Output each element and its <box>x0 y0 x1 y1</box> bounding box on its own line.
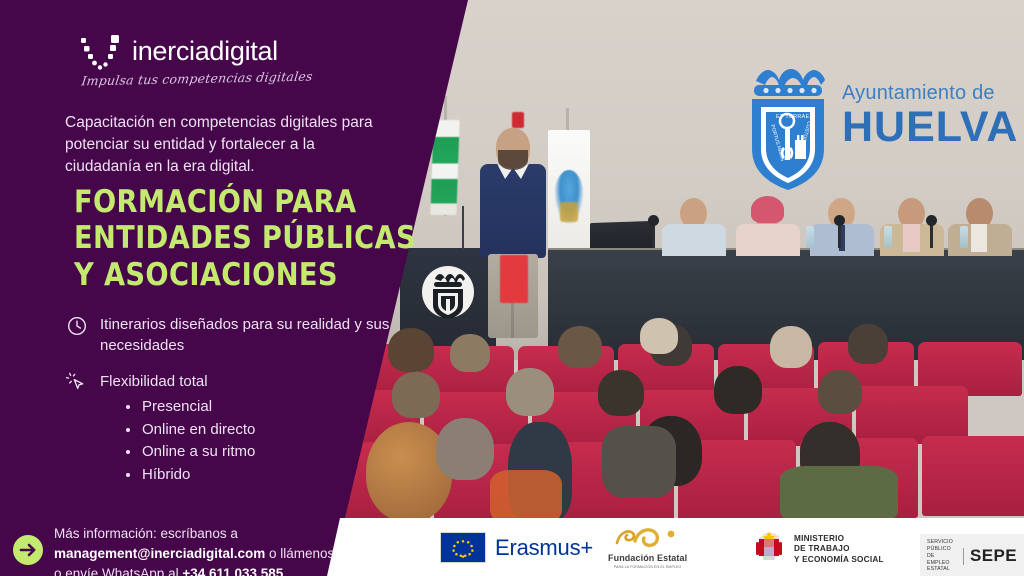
lede-paragraph: Capacitación en competencias digitales p… <box>65 112 377 178</box>
panelist-body <box>662 224 726 256</box>
flag-finial <box>512 112 524 128</box>
contact-text: Más información: escríbanos a management… <box>54 524 344 576</box>
panelist-headscarf <box>751 196 784 223</box>
podium-seal-icon <box>422 266 474 318</box>
sepe-fulltext: SERVICIO PÚBLICO DE EMPLEO ESTATAL <box>927 539 957 573</box>
modality-list: Presencial Online en directo Online a su… <box>100 396 396 487</box>
audience-head <box>450 334 490 372</box>
sepe-divider <box>963 548 964 565</box>
audience-head <box>640 318 678 354</box>
left-content: inerciadigital Impulsa tus competencias … <box>0 0 400 576</box>
sepe-box: SERVICIO PÚBLICO DE EMPLEO ESTATAL SEPE <box>920 534 1024 576</box>
audience-head <box>558 326 602 368</box>
panelist-shirt <box>971 224 987 252</box>
red-banner-prop <box>500 255 528 303</box>
contact-line-3-prefix: o envíe WhatsApp al <box>54 566 182 576</box>
audience-head <box>506 368 554 416</box>
sepe-line-1: SERVICIO PÚBLICO <box>927 539 953 552</box>
fundacion-swirl-icon <box>613 526 683 553</box>
clock-icon <box>66 315 88 337</box>
sepe-acronym: SEPE <box>970 546 1017 566</box>
list-item: Híbrido <box>126 464 396 487</box>
podium-microphone <box>462 206 464 250</box>
huelva-wordmark: Ayuntamiento de HUELVA <box>842 83 1018 149</box>
cursor-click-icon <box>66 372 88 394</box>
footer-logos: Erasmus+ Fundación Estatal PARA LA FORMA… <box>340 518 1024 576</box>
speaker-jacket <box>480 164 546 258</box>
speaker-beard <box>498 150 528 170</box>
svg-text:ET TERRAE: ET TERRAE <box>776 114 810 120</box>
audience-head <box>714 366 762 414</box>
audience-head <box>598 370 644 416</box>
fundacion-estatal-logo: Fundación Estatal PARA LA FORMACIÓN EN E… <box>608 526 687 569</box>
panelist-1 <box>660 198 728 254</box>
panelist-2 <box>734 198 802 254</box>
page-title: FORMACIÓN PARA ENTIDADES PÚBLICAS Y ASOC… <box>74 184 356 293</box>
feature-flexibility: Flexibilidad total Presencial Online en … <box>66 371 396 487</box>
spain-coat-of-arms-icon <box>752 530 786 569</box>
water-bottle <box>960 226 968 248</box>
table-microphone <box>652 222 655 248</box>
audience-head <box>436 418 494 480</box>
promotional-banner: ET TERRAE PORTUS MARIS CUSTODIA Ayuntami… <box>0 0 1024 576</box>
fundacion-label: Fundación Estatal <box>608 553 687 563</box>
contact-email[interactable]: management@inerciadigital.com <box>54 546 265 561</box>
eu-flag-icon <box>440 532 486 563</box>
table-microphone <box>930 222 933 248</box>
fundacion-sublabel: PARA LA FORMACIÓN EN EL EMPLEO <box>614 565 682 569</box>
inercia-digital-logo[interactable]: inerciadigital Impulsa tus competencias … <box>80 33 340 91</box>
audience-head <box>770 326 812 368</box>
ministerio-logo: MINISTERIO DE TRABAJO Y ECONOMÍA SOCIAL <box>752 530 884 569</box>
sepe-logo: SERVICIO PÚBLICO DE EMPLEO ESTATAL SEPE <box>920 534 1024 576</box>
table-microphone <box>838 222 841 248</box>
ministerio-line-3: Y ECONOMÍA SOCIAL <box>794 555 884 564</box>
huelva-crest-icon: ET TERRAE PORTUS MARIS CUSTODIA <box>742 55 834 190</box>
water-bottle <box>884 226 892 248</box>
huelva-branding: ET TERRAE PORTUS MARIS CUSTODIA Ayuntami… <box>742 55 992 205</box>
erasmus-plus-logo: Erasmus+ <box>440 532 593 563</box>
audience-jacket-orange <box>490 470 562 522</box>
feature-text: Flexibilidad total <box>100 371 396 392</box>
ministerio-line-2: DE TRABAJO <box>794 544 850 553</box>
audience-head <box>818 370 862 414</box>
ministerio-label: MINISTERIO DE TRABAJO Y ECONOMÍA SOCIAL <box>794 534 884 566</box>
headline-line-1: FORMACIÓN PARA <box>74 184 356 220</box>
dotted-v-icon <box>80 33 126 73</box>
feature-text: Itinerarios diseñados para su realidad y… <box>100 314 396 357</box>
panelist-3 <box>808 198 876 254</box>
panelist-5 <box>946 198 1014 254</box>
contact-line-2-rest: o llámenos <box>265 546 334 561</box>
seat <box>922 436 1024 516</box>
headline-line-2: ENTIDADES PÚBLICAS <box>74 220 356 256</box>
erasmus-label: Erasmus+ <box>495 535 593 561</box>
arrow-right-circle-icon <box>12 534 44 566</box>
panelist-body <box>736 224 800 256</box>
contact-phone[interactable]: +34 611 033 585 <box>182 566 283 576</box>
audience-jacket-green <box>780 466 898 522</box>
audience-jacket <box>602 426 676 498</box>
panelist-shirt <box>903 224 920 252</box>
standing-speaker <box>478 128 550 338</box>
feature-list: Itinerarios diseñados para su realidad y… <box>66 314 396 501</box>
institutional-flag <box>548 130 590 250</box>
water-bottle <box>806 226 814 248</box>
list-item: Online a su ritmo <box>126 441 396 464</box>
sepe-line-2: DE EMPLEO ESTATAL <box>927 553 950 573</box>
ministerio-line-1: MINISTERIO <box>794 534 844 543</box>
huelva-line1: Ayuntamiento de <box>842 83 1018 103</box>
headline-line-3: Y ASOCIACIONES <box>74 257 356 293</box>
contact-line-1: Más información: escríbanos a <box>54 526 238 541</box>
list-item: Online en directo <box>126 419 396 442</box>
audience-head <box>848 324 888 364</box>
audience-seating <box>340 330 1024 522</box>
flag-emblem-detail <box>560 202 578 222</box>
huelva-line2: HUELVA <box>842 106 1018 149</box>
feature-itineraries: Itinerarios diseñados para su realidad y… <box>66 314 396 357</box>
logo-wordmark: inerciadigital <box>132 38 278 65</box>
list-item: Presencial <box>126 396 396 419</box>
